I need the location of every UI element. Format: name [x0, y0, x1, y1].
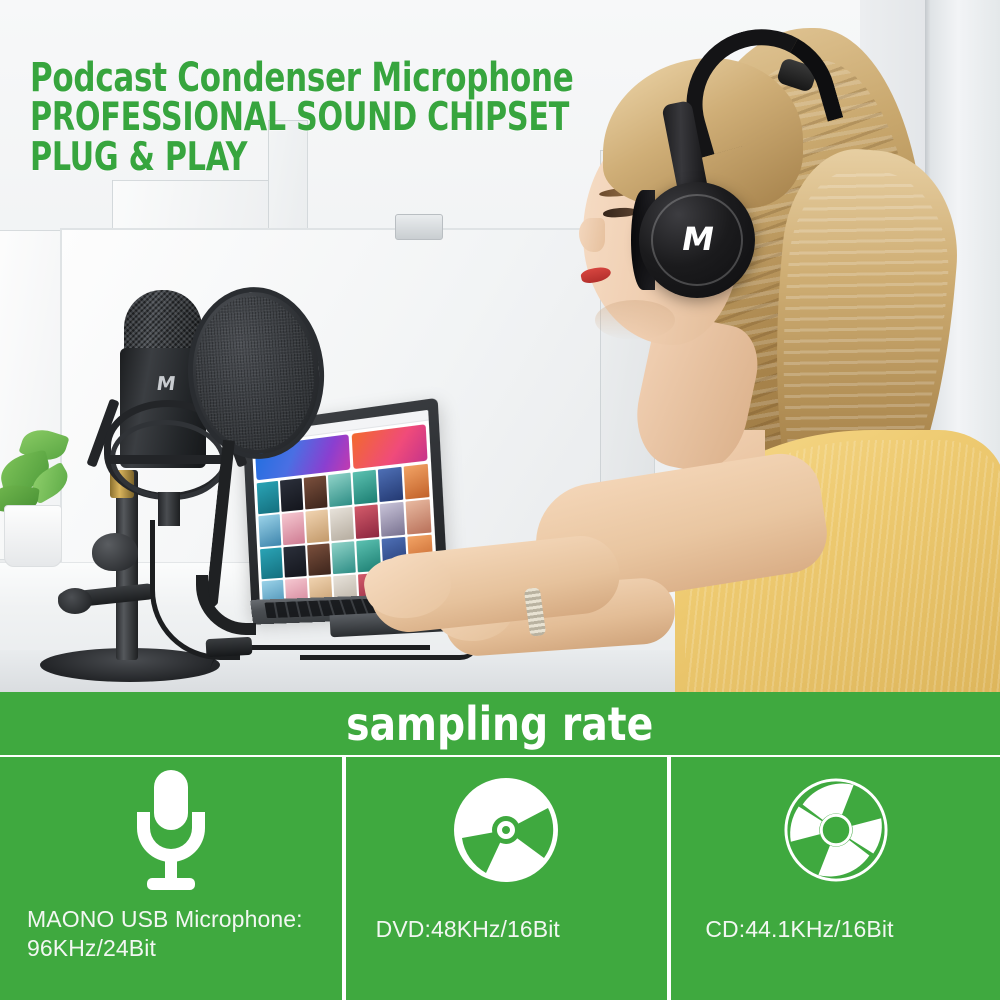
maono-mic-logo: M [150, 372, 181, 396]
product-marketing-image: M [0, 0, 1000, 1000]
plant-pot [4, 505, 62, 567]
screen-thumbnail [305, 509, 329, 543]
screen-thumbnail [280, 478, 303, 512]
screen-thumbnail [331, 541, 355, 575]
screen-thumbnail [378, 467, 403, 502]
product-photo: M [0, 0, 1000, 692]
spec-card-dvd: DVD:48KHz/16Bit [346, 757, 668, 1000]
screen-banner-tile [351, 424, 427, 469]
sampling-rate-cards: MAONO USB Microphone: 96KHz/24Bit DVD:48… [0, 757, 1000, 1000]
headline-block: Podcast Condenser Microphone PROFESSIONA… [30, 58, 690, 178]
screen-thumbnail [304, 475, 328, 509]
cable-ferrite-bead [206, 637, 253, 657]
screen-thumbnail [354, 504, 379, 538]
whiteboard-clip [395, 214, 443, 240]
screen-thumbnail [283, 545, 306, 578]
shock-mount-crossbar [106, 455, 230, 464]
screen-thumbnail [404, 464, 430, 499]
screen-thumbnail [353, 470, 378, 505]
screen-thumbnail [260, 547, 283, 580]
headline-line-2: PROFESSIONAL SOUND CHIPSET [30, 98, 598, 138]
banner-title: sampling rate [346, 701, 653, 747]
maono-headphone-logo: M [671, 216, 725, 262]
screen-thumbnail [282, 512, 305, 545]
cd-disc-icon [671, 765, 1000, 895]
screen-thumbnail [307, 543, 331, 576]
headline-line-1: Podcast Condenser Microphone [30, 58, 598, 98]
screen-thumbnail [406, 499, 432, 534]
screen-thumbnail [330, 507, 354, 541]
spec-card-label: DVD:48KHz/16Bit [376, 915, 654, 944]
screen-thumbnail [380, 502, 405, 537]
spec-card-cd: CD:44.1KHz/16Bit [671, 757, 1000, 1000]
mic-stand-knob [92, 533, 138, 571]
screen-thumbnail [257, 481, 280, 514]
sampling-rate-banner: sampling rate [0, 692, 1000, 755]
spec-card-label: CD:44.1KHz/16Bit [705, 915, 986, 944]
screen-thumbnail [328, 473, 352, 507]
screen-thumbnail [258, 514, 281, 547]
microphone-icon [0, 765, 342, 895]
jaw-shadow [595, 300, 675, 340]
dvd-disc-icon [346, 765, 668, 895]
nose [579, 218, 605, 252]
spec-card-microphone: MAONO USB Microphone: 96KHz/24Bit [0, 757, 342, 1000]
spec-card-label: MAONO USB Microphone: 96KHz/24Bit [27, 905, 328, 963]
headline-line-3: PLUG & PLAY [30, 138, 598, 178]
mic-stand-screw [58, 588, 92, 614]
